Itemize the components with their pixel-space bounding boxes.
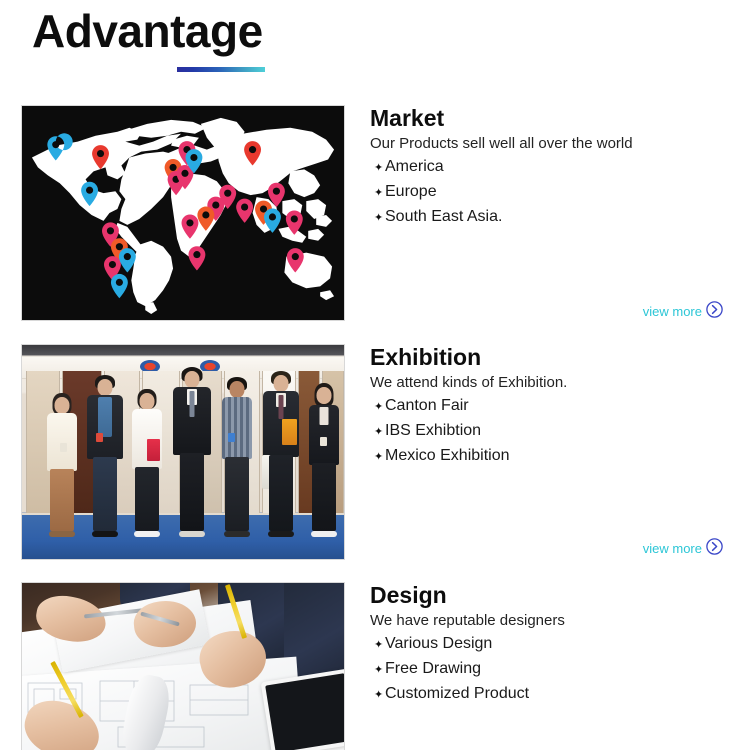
person-shoes xyxy=(49,531,75,537)
design-feature-list: ✦Various Design ✦Free Drawing ✦Customize… xyxy=(370,632,728,707)
person-head xyxy=(274,375,289,392)
person-shoes xyxy=(268,531,294,537)
person-shoes xyxy=(224,531,250,537)
bullet-diamond-icon: ✦ xyxy=(374,633,385,657)
bullet-diamond-icon: ✦ xyxy=(374,420,385,444)
market-copy: Market Our Products sell well all over t… xyxy=(370,105,728,230)
person-head xyxy=(140,393,155,410)
exhibition-feature-list: ✦Canton Fair ✦IBS Exhibtion ✦Mexico Exhi… xyxy=(370,394,728,469)
list-item: ✦Canton Fair xyxy=(370,394,728,419)
person xyxy=(216,377,258,553)
exhibition-photo-canvas xyxy=(22,345,344,559)
bullet-diamond-icon: ✦ xyxy=(374,445,385,469)
section-title: Exhibition xyxy=(370,344,728,371)
list-item: ✦Free Drawing xyxy=(370,657,728,682)
section-subtitle: We have reputable designers xyxy=(370,611,728,631)
person-head xyxy=(185,371,200,388)
person-shoes xyxy=(179,531,205,537)
person-shoes xyxy=(311,531,337,537)
person-head xyxy=(98,379,113,396)
list-item: ✦Europe xyxy=(370,180,728,205)
list-item: ✦South East Asia. xyxy=(370,205,728,230)
section-title: Design xyxy=(370,582,728,609)
advantage-row-market: Market Our Products sell well all over t… xyxy=(0,105,750,321)
tablet-screen xyxy=(265,673,344,750)
person-shirt xyxy=(98,397,112,437)
view-more-label: view more xyxy=(643,304,702,320)
page-title: Advantage xyxy=(32,2,263,60)
list-item: ✦IBS Exhibtion xyxy=(370,419,728,444)
person xyxy=(84,375,126,553)
person-head xyxy=(317,387,332,404)
exhibition-copy: Exhibition We attend kinds of Exhibition… xyxy=(370,344,728,469)
bullet-diamond-icon: ✦ xyxy=(374,206,385,230)
advantage-row-exhibition: Exhibition We attend kinds of Exhibition… xyxy=(0,344,750,560)
section-subtitle: We attend kinds of Exhibition. xyxy=(370,373,728,393)
badge xyxy=(60,443,67,452)
badge xyxy=(96,433,103,442)
list-item-label: Mexico Exhibition xyxy=(385,444,510,468)
person-head xyxy=(230,381,245,398)
person-legs xyxy=(135,467,159,531)
person-legs xyxy=(225,457,249,531)
list-item-label: Europe xyxy=(385,180,437,204)
world-map-pins-image xyxy=(21,105,345,321)
person-shoes xyxy=(92,531,118,537)
bullet-diamond-icon: ✦ xyxy=(374,156,385,180)
view-more-link-exhibition[interactable]: view more xyxy=(643,538,723,560)
person-shoes xyxy=(134,531,160,537)
necktie xyxy=(279,395,284,419)
list-item: ✦America xyxy=(370,155,728,180)
design-copy: Design We have reputable designers ✦Vari… xyxy=(370,582,728,707)
badge xyxy=(320,437,327,446)
design-drafting-photo xyxy=(21,582,345,750)
section-title: Market xyxy=(370,105,728,132)
market-feature-list: ✦America ✦Europe ✦South East Asia. xyxy=(370,155,728,230)
list-item: ✦Customized Product xyxy=(370,682,728,707)
list-item-label: America xyxy=(385,155,444,179)
person-legs xyxy=(180,453,204,531)
section-subtitle: Our Products sell well all over the worl… xyxy=(370,134,728,154)
bullet-diamond-icon: ✦ xyxy=(374,181,385,205)
chevron-right-circle-icon xyxy=(706,301,723,323)
view-more-link-market[interactable]: view more xyxy=(643,301,723,323)
person xyxy=(260,371,302,553)
person-legs xyxy=(312,463,336,531)
list-item-label: Various Design xyxy=(385,632,492,656)
necktie xyxy=(190,391,195,417)
list-item-label: South East Asia. xyxy=(385,205,502,229)
view-more-label: view more xyxy=(643,541,702,557)
person-shirt xyxy=(320,407,329,425)
person xyxy=(128,387,166,553)
orange-folder xyxy=(282,419,297,445)
chevron-right-circle-icon xyxy=(706,538,723,560)
list-item: ✦Mexico Exhibition xyxy=(370,444,728,469)
advantage-row-design: Design We have reputable designers ✦Vari… xyxy=(0,582,750,750)
list-item-label: Customized Product xyxy=(385,682,529,706)
person-legs xyxy=(93,457,117,531)
title-underline-accent xyxy=(177,67,265,72)
exhibition-team-photo xyxy=(21,344,345,560)
bullet-diamond-icon: ✦ xyxy=(374,658,385,682)
badge xyxy=(228,433,235,442)
person xyxy=(306,381,342,553)
red-folder xyxy=(147,439,160,461)
person-torso xyxy=(47,413,77,471)
bullet-diamond-icon: ✦ xyxy=(374,395,385,419)
person-head xyxy=(55,397,70,414)
bullet-diamond-icon: ✦ xyxy=(374,683,385,707)
list-item-label: Free Drawing xyxy=(385,657,481,681)
list-item: ✦Various Design xyxy=(370,632,728,657)
list-item-label: IBS Exhibtion xyxy=(385,419,481,443)
person-legs xyxy=(50,469,74,531)
design-photo-canvas xyxy=(22,583,344,750)
person xyxy=(44,391,80,553)
page-header: Advantage xyxy=(0,0,750,98)
person xyxy=(170,367,214,553)
tablet-device xyxy=(261,669,344,750)
map-canvas xyxy=(22,106,344,320)
person-legs xyxy=(269,455,293,531)
person-torso xyxy=(222,397,252,459)
list-item-label: Canton Fair xyxy=(385,394,469,418)
